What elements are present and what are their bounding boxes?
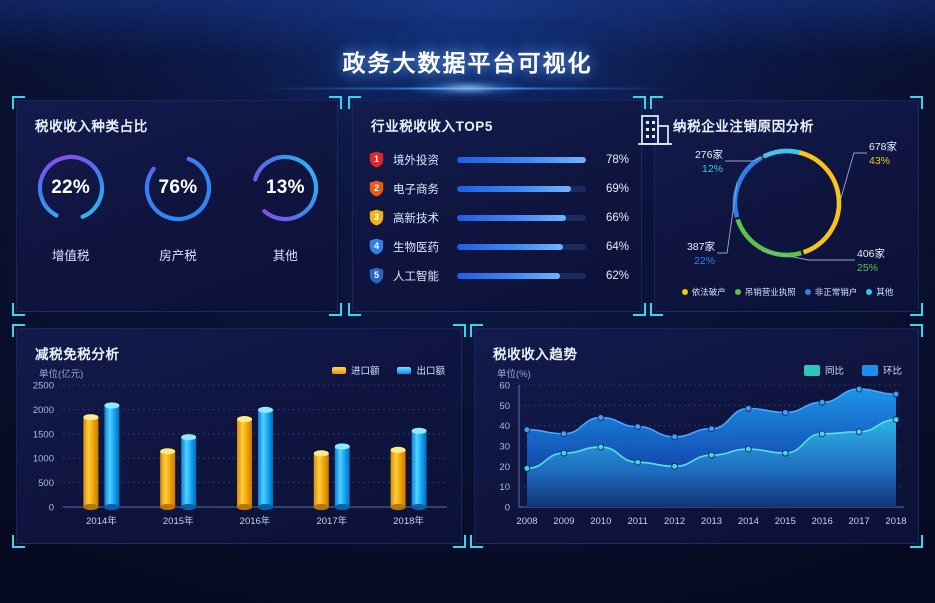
ring-label-count: 406家 bbox=[857, 247, 886, 260]
corner-bracket-tl bbox=[470, 324, 483, 337]
gauge-2[interactable]: 76%房产税 bbox=[132, 149, 224, 264]
rank-number: 4 bbox=[369, 238, 384, 255]
rank-number: 1 bbox=[369, 151, 384, 168]
x-axis-tick: 2018年 bbox=[393, 515, 424, 527]
bar-出口额 bbox=[104, 402, 119, 510]
panel-title: 行业税收收入TOP5 bbox=[371, 115, 493, 135]
rank-label: 高新技术 bbox=[393, 210, 453, 226]
y-axis-tick: 2000 bbox=[33, 405, 54, 416]
rank-label: 生物医药 bbox=[393, 239, 453, 255]
panel-tax-type-share: 税收收入种类占比 22%增值税76%房产税13%其他 bbox=[16, 100, 338, 312]
legend-label: 环比 bbox=[883, 363, 902, 377]
legend-label: 非正常销户 bbox=[815, 286, 858, 298]
building-icon bbox=[632, 104, 678, 150]
rank-badge-shield-icon: 1 bbox=[369, 151, 384, 168]
legend-dot-icon bbox=[735, 289, 741, 295]
legend-label: 其他 bbox=[876, 286, 893, 298]
rank-percent: 66% bbox=[595, 212, 629, 224]
bar-chart-svg: 050010001500200025002014年2015年2016年2017年… bbox=[17, 377, 463, 537]
rank-percent: 78% bbox=[595, 154, 629, 166]
corner-bracket-tl bbox=[348, 96, 361, 109]
rank-progress-track bbox=[457, 215, 586, 221]
x-axis-tick: 2011 bbox=[627, 516, 647, 527]
page-title: 政务大数据平台可视化 bbox=[0, 44, 935, 78]
gauge-value: 22% bbox=[32, 149, 110, 227]
y-axis-tick: 2500 bbox=[33, 381, 54, 392]
legend-dot-icon bbox=[866, 289, 872, 295]
ring-label-percent: 25% bbox=[857, 262, 878, 274]
corner-bracket-tl bbox=[12, 96, 25, 109]
x-axis-tick: 2015 bbox=[775, 516, 796, 527]
corner-bracket-tr bbox=[453, 324, 466, 337]
header-light-streak bbox=[253, 87, 683, 90]
bar-进口额 bbox=[314, 450, 329, 510]
ring-chart: 678家43%406家25%387家22%276家12% bbox=[655, 127, 920, 277]
panel-industry-top5: 行业税收收入TOP5 1境外投资78%2电子商务69%3高新技术66%4生物医药… bbox=[352, 100, 642, 312]
gauge-ring: 22% bbox=[32, 149, 110, 227]
corner-bracket-tr bbox=[329, 96, 342, 109]
legend-item[interactable]: 依法破产 bbox=[682, 286, 726, 298]
legend-label: 出口额 bbox=[416, 363, 445, 377]
rank-label: 境外投资 bbox=[393, 152, 453, 168]
rank-badge-shield-icon: 5 bbox=[369, 267, 384, 284]
corner-bracket-tr bbox=[910, 324, 923, 337]
bar-进口额 bbox=[391, 447, 406, 510]
x-axis-tick: 2009 bbox=[553, 516, 574, 527]
corner-bracket-tr bbox=[910, 96, 923, 109]
rank-row[interactable]: 2电子商务69% bbox=[353, 174, 643, 203]
y-axis-tick: 50 bbox=[499, 401, 510, 412]
bar-chart-legend: 进口额出口额 bbox=[332, 363, 445, 377]
legend-item[interactable]: 环比 bbox=[862, 363, 902, 377]
rank-progress-track bbox=[457, 273, 586, 279]
y-axis-tick: 60 bbox=[499, 381, 510, 392]
y-axis-tick: 0 bbox=[505, 503, 510, 514]
rank-badge-shield-icon: 3 bbox=[369, 209, 384, 226]
ring-label-percent: 12% bbox=[702, 163, 723, 175]
x-axis-tick: 2014年 bbox=[86, 515, 117, 527]
bar-出口额 bbox=[412, 428, 427, 510]
ring-label-percent: 22% bbox=[694, 255, 715, 267]
rank-progress-fill bbox=[457, 215, 566, 221]
gauge-value: 13% bbox=[246, 149, 324, 227]
x-axis-tick: 2014 bbox=[738, 516, 759, 527]
legend-item[interactable]: 进口额 bbox=[332, 363, 380, 377]
gauge-ring: 13% bbox=[246, 149, 324, 227]
rank-percent: 62% bbox=[595, 270, 629, 282]
dashboard-stage: 政务大数据平台可视化 税收收入种类占比 22%增值税76%房产税13%其他 行业… bbox=[0, 0, 935, 603]
ring-label-count: 678家 bbox=[869, 140, 898, 153]
legend-label: 同比 bbox=[825, 363, 844, 377]
bar-进口额 bbox=[237, 416, 252, 510]
ring-label-count: 276家 bbox=[695, 148, 724, 161]
panel-tax-revenue-trend: 税收收入趋势 单位(%) 同比环比 0102030405060200820092… bbox=[474, 328, 919, 544]
legend-label: 进口额 bbox=[351, 363, 380, 377]
bar-出口额 bbox=[258, 407, 273, 510]
gauge-3[interactable]: 13%其他 bbox=[239, 149, 331, 264]
ring-chart-svg: 678家43%406家25%387家22%276家12% bbox=[655, 127, 920, 277]
legend-item[interactable]: 出口额 bbox=[397, 363, 445, 377]
y-axis-tick: 1500 bbox=[33, 429, 54, 440]
legend-label: 吊销营业执照 bbox=[745, 286, 796, 298]
x-axis-tick: 2008 bbox=[516, 516, 537, 527]
rank-list: 1境外投资78%2电子商务69%3高新技术66%4生物医药64%5人工智能62% bbox=[353, 145, 643, 290]
rank-row[interactable]: 1境外投资78% bbox=[353, 145, 643, 174]
legend-item[interactable]: 其他 bbox=[866, 286, 893, 298]
corner-bracket-bl bbox=[650, 303, 663, 316]
dashboard-header: 政务大数据平台可视化 bbox=[0, 0, 935, 96]
y-axis-tick: 20 bbox=[499, 462, 510, 473]
y-axis-tick: 1000 bbox=[33, 454, 54, 465]
bar-进口额 bbox=[160, 448, 175, 510]
x-axis-tick: 2017 bbox=[849, 516, 870, 527]
rank-badge-shield-icon: 4 bbox=[369, 238, 384, 255]
gauge-label: 其他 bbox=[239, 245, 331, 264]
gauge-group: 22%增值税76%房产税13%其他 bbox=[17, 149, 339, 309]
bar-出口额 bbox=[335, 443, 350, 510]
legend-dot-icon bbox=[682, 289, 688, 295]
legend-item[interactable]: 吊销营业执照 bbox=[735, 286, 796, 298]
gauge-1[interactable]: 22%增值税 bbox=[25, 149, 117, 264]
rank-progress-track bbox=[457, 244, 586, 250]
panel-title: 税收收入种类占比 bbox=[35, 115, 148, 135]
gauge-ring: 76% bbox=[139, 149, 217, 227]
rank-number: 5 bbox=[369, 267, 384, 284]
area-chart-svg: 0102030405060200820092010201120122013201… bbox=[475, 377, 920, 537]
y-axis-tick: 40 bbox=[499, 421, 510, 432]
rank-progress-track bbox=[457, 186, 586, 192]
panel-title: 税收收入趋势 bbox=[493, 343, 578, 363]
rank-row[interactable]: 3高新技术66% bbox=[353, 203, 643, 232]
legend-swatch-icon bbox=[862, 365, 878, 376]
corner-bracket-bl bbox=[348, 303, 361, 316]
panel-deregistration-reasons: 纳税企业注销原因分析 678家43%406家25%387家22%276家12% … bbox=[654, 100, 919, 312]
y-axis-tick: 10 bbox=[499, 482, 510, 493]
area-chart-legend: 同比环比 bbox=[804, 363, 902, 377]
legend-swatch-icon bbox=[332, 367, 346, 374]
rank-label: 人工智能 bbox=[393, 268, 453, 284]
x-axis-tick: 2012 bbox=[664, 516, 685, 527]
x-axis-tick: 2016 bbox=[812, 516, 833, 527]
gauge-label: 房产税 bbox=[132, 245, 224, 264]
rank-label: 电子商务 bbox=[393, 181, 453, 197]
x-axis-tick: 2016年 bbox=[240, 515, 271, 527]
x-axis-tick: 2018 bbox=[885, 516, 906, 527]
ring-legend: 依法破产吊销营业执照非正常销户其他 bbox=[655, 286, 920, 298]
gauge-label: 增值税 bbox=[25, 245, 117, 264]
gauge-value: 76% bbox=[139, 149, 217, 227]
corner-bracket-br bbox=[910, 303, 923, 316]
x-axis-tick: 2017年 bbox=[316, 515, 347, 527]
legend-item[interactable]: 非正常销户 bbox=[805, 286, 858, 298]
rank-percent: 64% bbox=[595, 241, 629, 253]
legend-item[interactable]: 同比 bbox=[804, 363, 844, 377]
rank-progress-fill bbox=[457, 186, 571, 192]
y-axis-tick: 0 bbox=[49, 503, 54, 514]
x-axis-tick: 2010 bbox=[590, 516, 611, 527]
bar-进口额 bbox=[83, 414, 98, 510]
legend-dot-icon bbox=[805, 289, 811, 295]
legend-swatch-icon bbox=[804, 365, 820, 376]
corner-bracket-br bbox=[633, 303, 646, 316]
panel-tax-reduction-analysis: 减税免税分析 单位(亿元) 进口额出口额 0500100015002000250… bbox=[16, 328, 462, 544]
rank-number: 2 bbox=[369, 180, 384, 197]
rank-progress-fill bbox=[457, 273, 560, 279]
rank-number: 3 bbox=[369, 209, 384, 226]
panel-title: 减税免税分析 bbox=[35, 343, 120, 363]
rank-percent: 69% bbox=[595, 183, 629, 195]
rank-progress-fill bbox=[457, 157, 586, 163]
rank-badge-shield-icon: 2 bbox=[369, 180, 384, 197]
ring-label-percent: 43% bbox=[869, 155, 890, 167]
legend-label: 依法破产 bbox=[692, 286, 726, 298]
bar-出口额 bbox=[181, 434, 196, 510]
rank-row[interactable]: 5人工智能62% bbox=[353, 261, 643, 290]
rank-row[interactable]: 4生物医药64% bbox=[353, 232, 643, 261]
ring-label-count: 387家 bbox=[687, 240, 716, 253]
corner-bracket-tl bbox=[12, 324, 25, 337]
legend-swatch-icon bbox=[397, 367, 411, 374]
x-axis-tick: 2013 bbox=[701, 516, 722, 527]
y-axis-tick: 500 bbox=[38, 478, 54, 489]
x-axis-tick: 2015年 bbox=[163, 515, 194, 527]
rank-progress-fill bbox=[457, 244, 563, 250]
y-axis-tick: 30 bbox=[499, 442, 510, 453]
rank-progress-track bbox=[457, 157, 586, 163]
